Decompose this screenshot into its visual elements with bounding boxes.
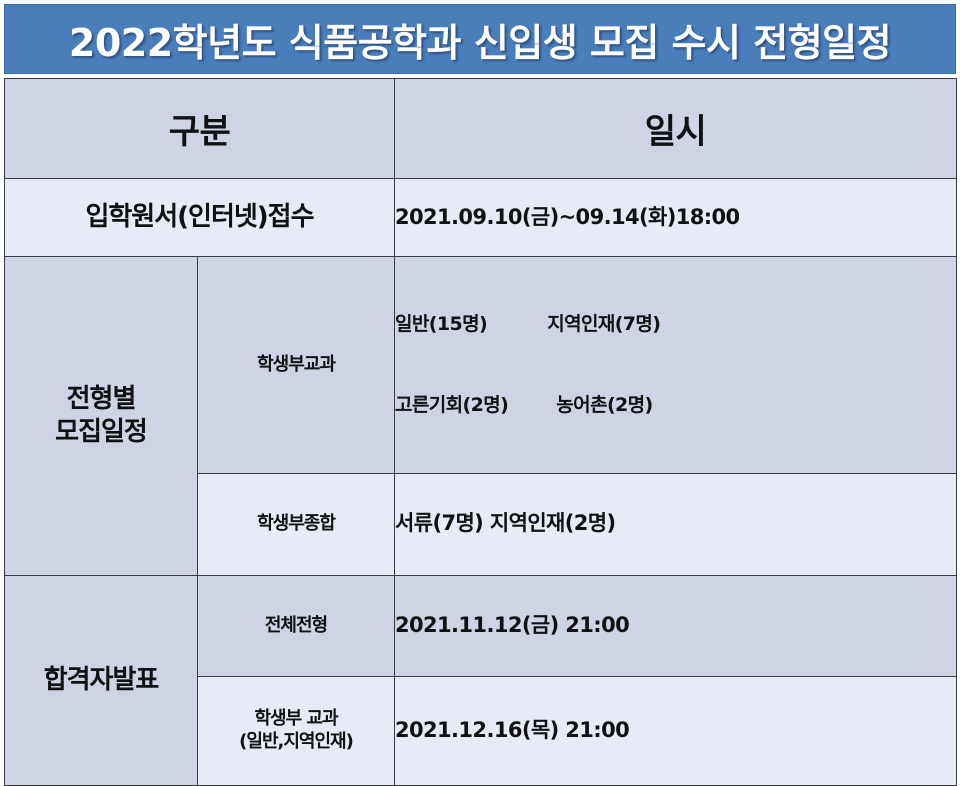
quota-line1: 일반(15명) 지역인재(7명) (395, 311, 956, 338)
row-label-result-announcement: 합격자발표 (5, 575, 198, 785)
sub-label-line1: 학생부 교과 (198, 708, 394, 731)
sub-label-all-admission-types: 전체전형 (198, 575, 395, 676)
row-value-all-admission-types: 2021.11.12(금) 21:00 (395, 575, 957, 676)
page-title: 2022학년도 식품공학과 신입생 모집 수시 전형일정 (69, 12, 891, 67)
row-value-application-submission: 2021.09.10(금)~09.14(화)18:00 (395, 179, 957, 257)
row-label-application-submission: 입학원서(인터넷)접수 (5, 179, 395, 257)
row-value-student-record-subject: 일반(15명) 지역인재(7명) 고른기회(2명) 농어촌(2명) (395, 257, 957, 474)
admission-schedule-table: 구분 일시 입학원서(인터넷)접수 2021.09.10(금)~09.14(화)… (4, 78, 957, 786)
row-label-admission-schedule: 전형별 모집일정 (5, 257, 198, 576)
row-label-line2: 모집일정 (5, 416, 197, 449)
sub-label-student-record-subject: 학생부교과 (198, 257, 395, 474)
row-value-student-record-comprehensive: 서류(7명) 지역인재(2명) (395, 473, 957, 575)
table-row: 합격자발표 전체전형 2021.11.12(금) 21:00 (5, 575, 957, 676)
poster-title-bar: 2022학년도 식품공학과 신입생 모집 수시 전형일정 (4, 4, 956, 74)
row-value-student-record-subject-general-regional: 2021.12.16(목) 21:00 (395, 676, 957, 785)
table-row: 전형별 모집일정 학생부교과 일반(15명) 지역인재(7명) 고른기회(2명)… (5, 257, 957, 474)
quota-line2: 고른기회(2명) 농어촌(2명) (395, 392, 956, 419)
table-header-row: 구분 일시 (5, 79, 957, 179)
sub-label-line2: (일반,지역인재) (198, 731, 394, 754)
table-row: 입학원서(인터넷)접수 2021.09.10(금)~09.14(화)18:00 (5, 179, 957, 257)
row-label-line1: 전형별 (5, 383, 197, 416)
column-header-category: 구분 (5, 79, 395, 179)
sub-label-student-record-subject-general-regional: 학생부 교과 (일반,지역인재) (198, 676, 395, 785)
column-header-date: 일시 (395, 79, 957, 179)
schedule-poster: 2022학년도 식품공학과 신입생 모집 수시 전형일정 구분 일시 입학원서(… (0, 0, 960, 674)
sub-label-student-record-comprehensive: 학생부종합 (198, 473, 395, 575)
